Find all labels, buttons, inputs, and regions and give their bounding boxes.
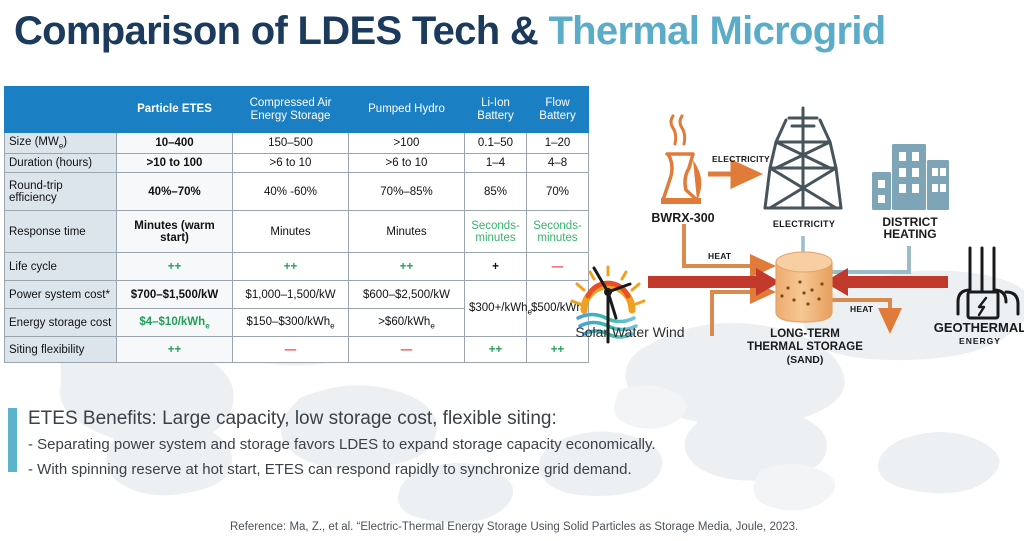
cell-size-etes: 10–400 — [117, 133, 233, 154]
cell-siting-caes: — — [233, 337, 349, 363]
cell-lifecycle-hydro: ++ — [349, 253, 465, 281]
table-row-life-cycle: Life cycle ++ ++ ++ + — — [5, 253, 589, 281]
cell-siting-liion: ++ — [465, 337, 527, 363]
row-label-duration: Duration (hours) — [5, 154, 117, 173]
table-header: Particle ETES Compressed Air Energy Stor… — [5, 87, 589, 133]
row-label-size: Size (MWe) — [5, 133, 117, 154]
table-row-siting-flexibility: Siting flexibility ++ — — ++ ++ — [5, 337, 589, 363]
bwrx-300-reactor-icon — [661, 116, 701, 204]
label-bwrx-300: BWRX-300 — [638, 212, 728, 224]
ldes-comparison-table: Particle ETES Compressed Air Energy Stor… — [4, 86, 589, 363]
transmission-tower-icon — [765, 108, 841, 208]
reference-citation: Reference: Ma, Z., et al. “Electric-Ther… — [230, 521, 798, 533]
table-row-response-time: Response time Minutes (warm start) Minut… — [5, 211, 589, 253]
cell-duration-hydro: >6 to 10 — [349, 154, 465, 173]
title-part-primary: Comparison of LDES Tech & — [14, 9, 548, 53]
table-row-efficiency: Round-trip efficiency 40%–70% 40% -60% 7… — [5, 173, 589, 211]
thermal-storage-cylinder — [776, 252, 832, 322]
benefits-accent-bar — [8, 408, 17, 472]
header-cell-pumped-hydro: Pumped Hydro — [349, 87, 465, 133]
geothermal-icon — [958, 248, 1018, 318]
cell-size-liion: 0.1–50 — [465, 133, 527, 154]
cell-response-caes: Minutes — [233, 211, 349, 253]
label-thermal-storage: LONG-TERMTHERMAL STORAGE(SAND) — [746, 328, 864, 367]
cell-siting-etes: ++ — [117, 337, 233, 363]
label-solar-water-wind: Solar Water Wind — [568, 324, 692, 340]
table-row-duration: Duration (hours) >10 to 100 >6 to 10 >6 … — [5, 154, 589, 173]
cell-duration-etes: >10 to 100 — [117, 154, 233, 173]
benefits-bullet-1: - Separating power system and storage fa… — [28, 432, 768, 457]
cell-lifecycle-caes: ++ — [233, 253, 349, 281]
table-header-row: Particle ETES Compressed Air Energy Stor… — [5, 87, 589, 133]
cell-size-hydro: >100 — [349, 133, 465, 154]
row-label-efficiency: Round-trip efficiency — [5, 173, 117, 211]
cell-efficiency-liion: 85% — [465, 173, 527, 211]
benefits-bullet-2: - With spinning reserve at hot start, ET… — [28, 457, 768, 482]
table-row-power-system-cost: Power system cost* $700–$1,500/kW $1,000… — [5, 281, 589, 309]
label-heat-right: HEAT — [850, 304, 873, 314]
label-heat-left: HEAT — [708, 251, 731, 261]
cell-energycost-hydro: >$60/kWhe — [349, 309, 465, 337]
page-title: Comparison of LDES Tech & Thermal Microg… — [14, 2, 1014, 62]
cell-energycost-etes: $4–$10/kWhe — [117, 309, 233, 337]
cell-response-liion: Seconds-minutes — [465, 211, 527, 253]
label-electricity-top: ELECTRICITY — [712, 154, 770, 164]
row-label-life-cycle: Life cycle — [5, 253, 117, 281]
header-cell-metric — [5, 87, 117, 133]
header-cell-compressed-air: Compressed Air Energy Storage — [233, 87, 349, 133]
cell-energycost-caes: $150–$300/kWhe — [233, 309, 349, 337]
header-cell-li-ion: Li-Ion Battery — [465, 87, 527, 133]
slide-root: Comparison of LDES Tech & Thermal Microg… — [0, 0, 1024, 541]
label-district-heating: DISTRICTHEATING — [860, 216, 960, 240]
label-electricity-grid: ELECTRICITY — [758, 218, 850, 230]
cell-cost-liion-merged: $300+/kWhe — [465, 281, 527, 337]
row-label-response-time: Response time — [5, 211, 117, 253]
comparison-table-container: Particle ETES Compressed Air Energy Stor… — [4, 86, 556, 363]
cell-duration-liion: 1–4 — [465, 154, 527, 173]
cell-size-caes: 150–500 — [233, 133, 349, 154]
title-part-accent: Thermal Microgrid — [548, 9, 885, 53]
cell-powercost-etes: $700–$1,500/kW — [117, 281, 233, 309]
benefits-heading: ETES Benefits: Large capacity, low stora… — [28, 406, 768, 432]
header-cell-particle-etes: Particle ETES — [117, 87, 233, 133]
cell-lifecycle-liion: + — [465, 253, 527, 281]
cell-powercost-caes: $1,000–1,500/kW — [233, 281, 349, 309]
table-row-size: Size (MWe) 10–400 150–500 >100 0.1–50 1–… — [5, 133, 589, 154]
cell-response-etes: Minutes (warm start) — [117, 211, 233, 253]
cell-response-hydro: Minutes — [349, 211, 465, 253]
cell-duration-caes: >6 to 10 — [233, 154, 349, 173]
label-geothermal: GEOTHERMALENERGY — [928, 322, 1024, 347]
district-heating-icon — [872, 144, 949, 210]
cell-siting-hydro: — — [349, 337, 465, 363]
table-body: Size (MWe) 10–400 150–500 >100 0.1–50 1–… — [5, 133, 589, 363]
benefits-block: ETES Benefits: Large capacity, low stora… — [8, 406, 768, 482]
cell-efficiency-etes: 40%–70% — [117, 173, 233, 211]
benefits-text: ETES Benefits: Large capacity, low stora… — [28, 406, 768, 482]
row-label-power-system-cost: Power system cost* — [5, 281, 117, 309]
thermal-microgrid-diagram: BWRX-300 ELECTRICITY ELECTRICITY DISTRIC… — [560, 96, 1024, 386]
row-label-energy-storage-cost: Energy storage cost — [5, 309, 117, 337]
cell-efficiency-hydro: 70%–85% — [349, 173, 465, 211]
cell-lifecycle-etes: ++ — [117, 253, 233, 281]
cell-powercost-hydro: $600–$2,500/kW — [349, 281, 465, 309]
cell-efficiency-caes: 40% -60% — [233, 173, 349, 211]
row-label-siting-flexibility: Siting flexibility — [5, 337, 117, 363]
